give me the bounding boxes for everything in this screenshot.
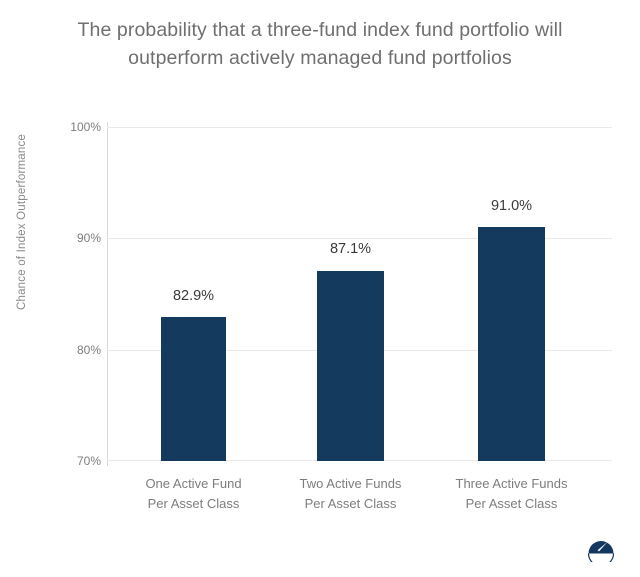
- bar-value-label-two-active-funds: 87.1%: [290, 241, 411, 257]
- y-tick-label-70: 70%: [57, 454, 101, 468]
- gridline-100: [107, 127, 612, 128]
- y-axis-tick-labels: 100% 90% 80% 70%: [55, 0, 101, 577]
- chart-title-line-2: outperform actively managed fund portfol…: [128, 47, 512, 69]
- chart-page: The probability that a three-fund index …: [0, 0, 640, 577]
- x-category-label-two-active-funds: Two Active Funds Per Asset Class: [280, 474, 421, 514]
- x-category-label-two-active-funds-line1: Two Active Funds: [300, 476, 402, 491]
- x-category-label-three-active-funds-line1: Three Active Funds: [456, 476, 568, 491]
- x-category-label-one-active-fund: One Active Fund Per Asset Class: [123, 474, 264, 514]
- x-category-label-one-active-fund-line1: One Active Fund: [145, 476, 241, 491]
- x-category-label-three-active-funds-line2: Per Asset Class: [466, 496, 558, 511]
- y-tick-label-100: 100%: [57, 120, 101, 134]
- y-tick-label-80: 80%: [57, 343, 101, 357]
- chart-title: The probability that a three-fund index …: [40, 16, 600, 72]
- bar-value-label-three-active-funds: 91.0%: [451, 198, 572, 214]
- bar-value-label-one-active-fund: 82.9%: [133, 288, 254, 304]
- bar-one-active-fund[interactable]: [161, 317, 226, 461]
- y-axis-title: Chance of Index Outperformance: [16, 112, 28, 332]
- bar-three-active-funds[interactable]: [478, 227, 545, 461]
- y-tick-label-90: 90%: [57, 231, 101, 245]
- x-category-label-three-active-funds: Three Active Funds Per Asset Class: [441, 474, 582, 514]
- x-category-label-two-active-funds-line2: Per Asset Class: [305, 496, 397, 511]
- x-category-label-one-active-fund-line2: Per Asset Class: [148, 496, 240, 511]
- chart-title-line-1: The probability that a three-fund index …: [77, 19, 562, 41]
- speedometer-logo: [586, 532, 616, 562]
- bar-two-active-funds[interactable]: [317, 271, 384, 461]
